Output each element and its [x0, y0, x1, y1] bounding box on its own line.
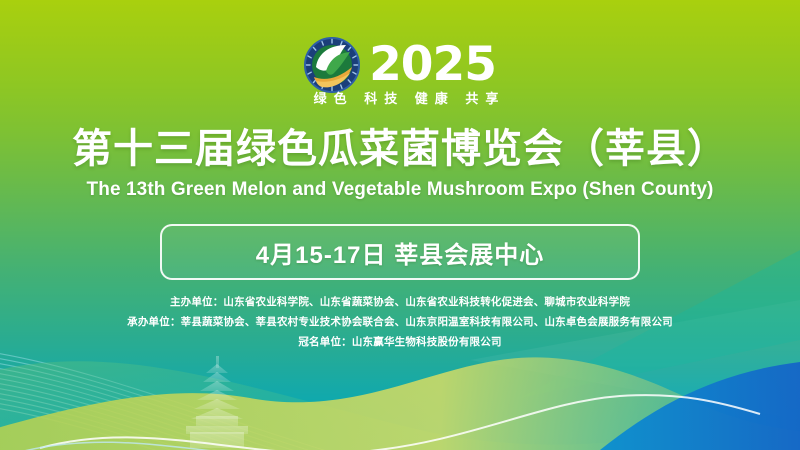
organizer-line-titlesponsor: 冠名单位：山东赢华生物科技股份有限公司 [0, 332, 800, 352]
page-title-chinese: 第十三届绿色瓜菜菌博览会（莘县） [0, 124, 800, 174]
organizer-line-coorganizer: 承办单位：莘县蔬菜协会、莘县农村专业技术协会联合会、山东京阳温室科技有限公司、山… [0, 312, 800, 332]
organizer-line-host: 主办单位：山东省农业科学院、山东省蔬菜协会、山东省农业科技转化促进会、聊城市农业… [0, 292, 800, 312]
green-leaf-circle-emblem-icon [304, 37, 360, 93]
brand-tagline: 绿色 科技 健康 共享 [6, 88, 800, 107]
date-venue-label: 4月15-17日 莘县会展中心 [256, 235, 544, 270]
expo-poster: 2025 绿色 科技 健康 共享 第十三届绿色瓜菜菌博览会（莘县） The 13… [0, 0, 800, 450]
brand-logo-row: 2025 [0, 34, 800, 96]
page-title-english: The 13th Green Melon and Vegetable Mushr… [0, 177, 800, 203]
year-label: 2025 [369, 41, 496, 88]
date-venue-pill: 4月15-17日 莘县会展中心 [160, 224, 640, 280]
organizer-credits: 主办单位：山东省农业科学院、山东省蔬菜协会、山东省农业科技转化促进会、聊城市农业… [0, 292, 800, 352]
date-venue-container: 4月15-17日 莘县会展中心 [0, 224, 800, 280]
